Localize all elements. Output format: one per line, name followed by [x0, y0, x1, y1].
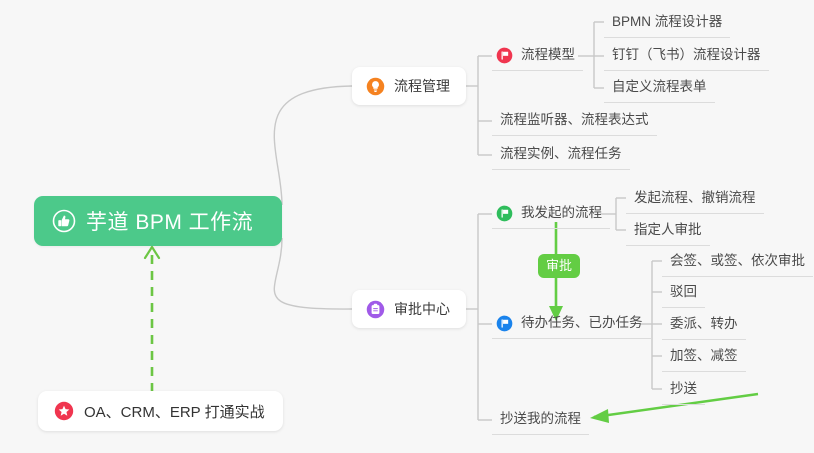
node-label: 我发起的流程	[521, 203, 602, 223]
thumbs-up-icon	[52, 209, 76, 233]
node-delegate-transfer[interactable]: 委派、转办	[662, 314, 746, 340]
node-label: 抄送	[670, 381, 697, 396]
dashed-arrow-up	[145, 247, 159, 392]
node-label: 流程监听器、流程表达式	[500, 112, 649, 127]
node-label: 委派、转办	[670, 316, 738, 331]
node-assignee-approval[interactable]: 指定人审批	[626, 220, 710, 246]
badge-label: 审批	[546, 258, 572, 273]
mindmap-canvas: 芋道 BPM 工作流 流程管理 流程模型 BPMN 流程设计器 钉钉（飞书）流程	[0, 0, 814, 453]
flag-icon	[496, 47, 513, 64]
bottom-card-integration[interactable]: OA、CRM、ERP 打通实战	[38, 391, 283, 431]
node-todo-done-tasks[interactable]: 待办任务、已办任务	[492, 313, 651, 339]
node-cc[interactable]: 抄送	[662, 379, 705, 405]
node-countersign[interactable]: 会签、或签、依次审批	[662, 251, 813, 277]
bottom-card-label: OA、CRM、ERP 打通实战	[84, 401, 265, 422]
approval-badge: 审批	[538, 254, 580, 278]
node-add-remove-sign[interactable]: 加签、减签	[662, 346, 746, 372]
branch-label: 审批中心	[394, 299, 450, 319]
node-process-instance[interactable]: 流程实例、流程任务	[492, 144, 630, 170]
root-label: 芋道 BPM 工作流	[86, 206, 253, 236]
star-icon	[54, 401, 74, 421]
node-label: 自定义流程表单	[612, 79, 707, 94]
node-label: 加签、减签	[670, 348, 738, 363]
node-label: 流程模型	[521, 45, 575, 65]
node-bpmn-designer[interactable]: BPMN 流程设计器	[604, 12, 730, 38]
node-dingtalk-designer[interactable]: 钉钉（飞书）流程设计器	[604, 45, 769, 71]
flag-icon	[496, 205, 513, 222]
node-reject[interactable]: 驳回	[662, 282, 705, 308]
node-custom-form[interactable]: 自定义流程表单	[604, 77, 715, 103]
node-my-initiated[interactable]: 我发起的流程	[492, 203, 610, 229]
node-cc-to-me[interactable]: 抄送我的流程	[492, 409, 589, 435]
node-process-model[interactable]: 流程模型	[492, 45, 583, 71]
node-label: 发起流程、撤销流程	[634, 190, 756, 205]
flag-icon	[496, 315, 513, 332]
branch-approval-center[interactable]: 审批中心	[352, 290, 466, 328]
branch-label: 流程管理	[394, 76, 450, 96]
root-node[interactable]: 芋道 BPM 工作流	[34, 196, 282, 246]
node-label: 指定人审批	[634, 222, 702, 237]
branch-process-management[interactable]: 流程管理	[352, 67, 466, 105]
lightbulb-icon	[366, 77, 385, 96]
node-label: 会签、或签、依次审批	[670, 253, 805, 268]
node-label: BPMN 流程设计器	[612, 14, 722, 29]
clipboard-icon	[366, 300, 385, 319]
node-label: 驳回	[670, 284, 697, 299]
node-label: 抄送我的流程	[500, 411, 581, 426]
node-process-listener[interactable]: 流程监听器、流程表达式	[492, 110, 657, 136]
node-label: 待办任务、已办任务	[521, 313, 643, 333]
node-start-cancel-process[interactable]: 发起流程、撤销流程	[626, 188, 764, 214]
node-label: 钉钉（飞书）流程设计器	[612, 47, 761, 62]
node-label: 流程实例、流程任务	[500, 146, 622, 161]
